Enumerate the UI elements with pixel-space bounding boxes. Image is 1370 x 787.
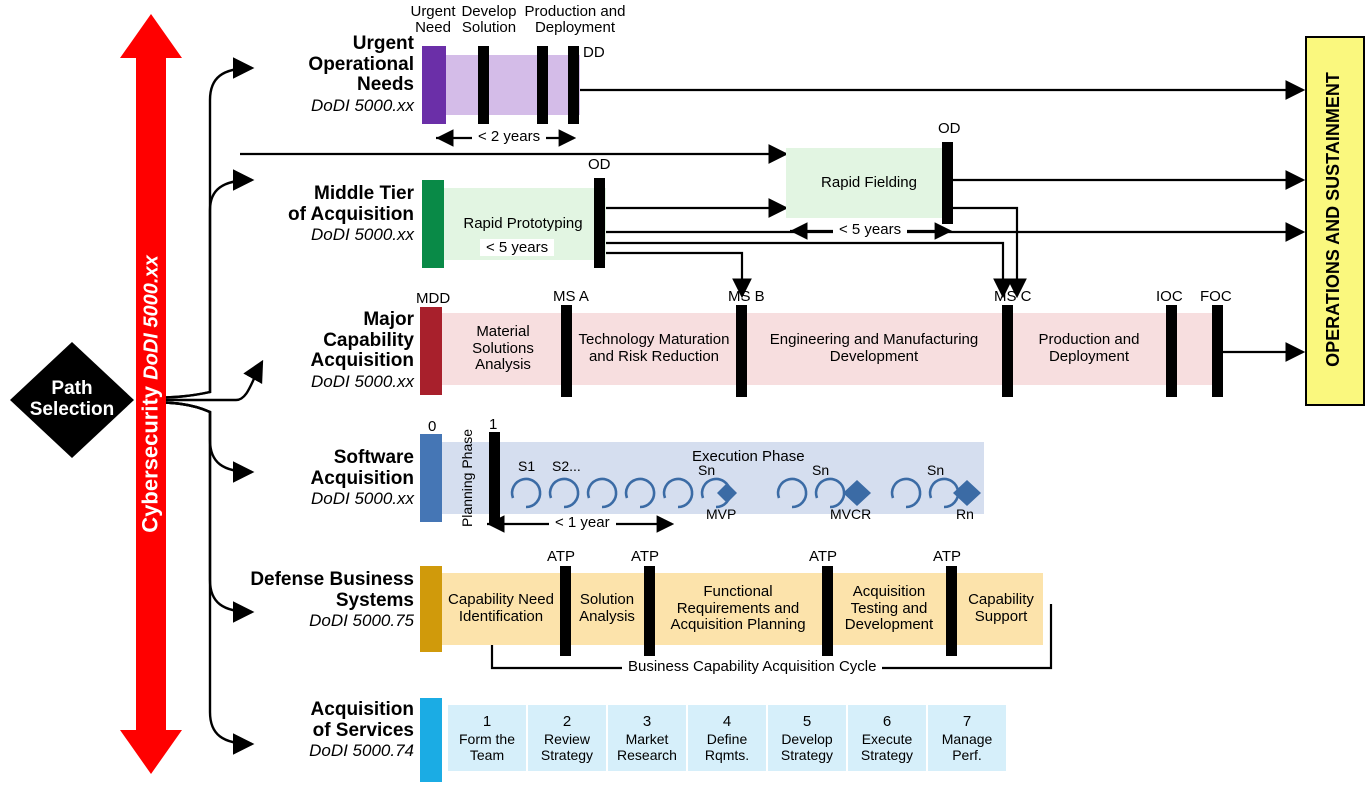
dbs-phase-functional-requirements: Functional Requirements and Acquisition …	[656, 573, 820, 645]
aos-name-line1: Acquisition	[311, 699, 414, 720]
dbs-dodi: DoDI 5000.75	[232, 612, 414, 630]
aos-step-6-num: 6	[883, 713, 891, 730]
aos-step-5[interactable]: 5 Develop Strategy	[768, 705, 846, 771]
dbs-milestone-label-atp-3: ATP	[809, 548, 837, 565]
aos-dodi: DoDI 5000.74	[252, 742, 414, 760]
aos-step-3-num: 3	[643, 713, 651, 730]
dbs-phase-3-text: Acquisition Testing and Development	[834, 584, 944, 634]
aos-step-4-l2: Rqmts.	[705, 747, 749, 763]
dbs-milestone-atp-3[interactable]	[822, 566, 833, 656]
sw-sprint-label-sn-2: Sn	[812, 462, 829, 478]
dbs-phase-4-text: Capability Support	[958, 592, 1044, 626]
pathway-label-defense-business-systems: Defense Business Systems DoDI 5000.75	[232, 570, 414, 630]
aos-entry-bar	[420, 698, 442, 782]
dbs-milestone-label-atp-4: ATP	[933, 548, 961, 565]
aos-step-2-l2: Strategy	[541, 747, 593, 763]
aos-step-7-num: 7	[963, 713, 971, 730]
dbs-milestone-atp-1[interactable]	[560, 566, 571, 656]
aos-step-1-l2: Team	[470, 747, 504, 763]
sw-diamond-label-rn: Rn	[956, 506, 974, 522]
pathway-label-acquisition-of-services: Acquisition of Services DoDI 5000.74	[252, 700, 414, 760]
aos-step-6-l2: Strategy	[861, 747, 913, 763]
sw-diamond-label-mvcr: MVCR	[830, 506, 871, 522]
aos-step-5-num: 5	[803, 713, 811, 730]
dbs-milestone-label-atp-2: ATP	[631, 548, 659, 565]
aos-step-2-l1: Review	[544, 731, 590, 747]
aos-step-6[interactable]: 6 Execute Strategy	[848, 705, 926, 771]
dbs-phase-1-text: Solution Analysis	[572, 592, 642, 626]
sw-sprint-label-s1: S1	[518, 458, 535, 474]
dbs-milestone-atp-2[interactable]	[644, 566, 655, 656]
aos-step-1[interactable]: 1 Form the Team	[448, 705, 526, 771]
dbs-phase-2-text: Functional Requirements and Acquisition …	[656, 584, 820, 634]
dbs-phase-acquisition-testing: Acquisition Testing and Development	[834, 573, 944, 645]
aos-step-3-l2: Research	[617, 747, 677, 763]
aos-step-4-num: 4	[723, 713, 731, 730]
dbs-name-line1: Defense Business	[250, 569, 414, 590]
dbs-phase-capability-need-identification: Capability Need Identification	[444, 573, 558, 645]
aos-step-7[interactable]: 7 Manage Perf.	[928, 705, 1006, 771]
dbs-milestone-atp-4[interactable]	[946, 566, 957, 656]
dbs-name-line2: Systems	[336, 590, 414, 611]
sw-sprint-label-sn-3: Sn	[927, 462, 944, 478]
sw-diamond-mvp	[717, 483, 737, 503]
dbs-phase-solution-analysis: Solution Analysis	[572, 573, 642, 645]
aos-step-3-l1: Market	[626, 731, 669, 747]
aos-name-line2: of Services	[313, 720, 414, 741]
aos-step-7-l2: Perf.	[952, 747, 982, 763]
sw-sprint-label-sn-1: Sn	[698, 462, 715, 478]
aos-step-2-num: 2	[563, 713, 571, 730]
dbs-cycle-label: Business Capability Acquisition Cycle	[622, 658, 882, 675]
aos-step-4-l1: Define	[707, 731, 747, 747]
dbs-phase-0-text: Capability Need Identification	[444, 592, 558, 626]
aos-step-2[interactable]: 2 Review Strategy	[528, 705, 606, 771]
aos-step-5-l2: Strategy	[781, 747, 833, 763]
aos-step-1-l1: Form the	[459, 731, 515, 747]
dbs-milestone-label-atp-1: ATP	[547, 548, 575, 565]
aos-step-5-l1: Develop	[781, 731, 832, 747]
sw-diamond-label-mvp: MVP	[706, 506, 736, 522]
aos-step-1-num: 1	[483, 713, 491, 730]
sw-diamond-mvcr	[843, 480, 871, 506]
aos-step-3[interactable]: 3 Market Research	[608, 705, 686, 771]
dbs-phase-capability-support: Capability Support	[958, 573, 1044, 645]
sw-diamond-rn	[953, 480, 981, 506]
aos-step-7-l1: Manage	[942, 731, 993, 747]
dbs-entry-bar	[420, 566, 442, 652]
aos-step-4[interactable]: 4 Define Rqmts.	[688, 705, 766, 771]
sw-duration: < 1 year	[549, 514, 616, 531]
sw-sprint-label-s2: S2...	[552, 458, 581, 474]
aos-step-6-l1: Execute	[862, 731, 913, 747]
